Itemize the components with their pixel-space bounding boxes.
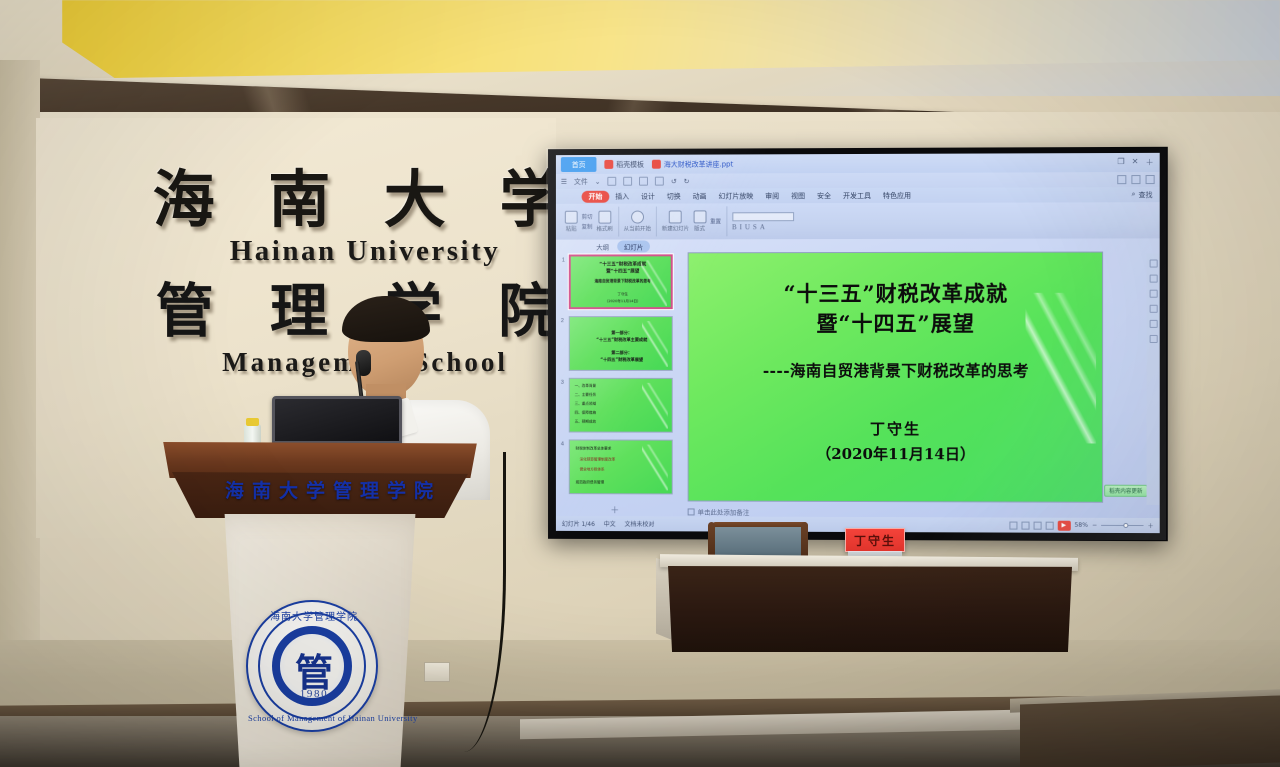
italic-icon[interactable]: I (740, 223, 742, 231)
redo-icon[interactable]: ↻ (684, 177, 690, 185)
minimize-icon[interactable] (1117, 175, 1126, 184)
help-icon[interactable] (1149, 259, 1157, 267)
panel-tab-slides[interactable]: 幻灯片 (617, 240, 650, 252)
plus-icon[interactable]: ＋ (1148, 521, 1154, 530)
wps-ribbon-tab-strip: 开始 插入 设计 切换 动画 幻灯片放映 审阅 视图 安全 开发工具 特色应用 … (556, 187, 1160, 204)
tab-presentation-file[interactable]: 海大财税改革讲座.ppt (652, 159, 733, 169)
university-name-english: Hainan University (150, 235, 580, 268)
new-slide-icon (669, 210, 682, 223)
from-current-slide-button[interactable]: 从当前开始 (624, 211, 651, 233)
current-slide[interactable]: “十三五”财税改革成就 暨“十四五”展望 ----海南自贸港背景下财税改革的思考… (688, 252, 1103, 503)
ribbon-tab-featured-apps[interactable]: 特色应用 (877, 190, 917, 200)
add-slide-button[interactable]: ＋ (610, 503, 619, 516)
ribbon-group-clipboard: 粘贴 剪切 复制 格式刷 (560, 207, 619, 237)
clipboard-small-buttons: 剪切 复制 (582, 213, 593, 231)
new-slide-button[interactable]: 新建幻灯片 (662, 210, 689, 232)
reset-label[interactable]: 重置 (710, 217, 721, 225)
bench-seat (1020, 695, 1280, 767)
thumbnail-slide-2[interactable]: 2 第一部分： “十三五”财税改革主要成就 第二部分： “十四五”财税改革展望 (569, 316, 673, 371)
panel-tab-outline[interactable]: 大纲 (596, 241, 609, 251)
slide-subtitle[interactable]: ----海南自贸港背景下财税改革的思考 (689, 359, 1103, 381)
thumbnail-slide-3[interactable]: 3 一、改革背景 二、主要任务 三、重点领域 四、保障措施 五、预期成效 (569, 378, 673, 433)
tab-template-label: 稻壳模板 (616, 159, 644, 169)
bold-icon[interactable]: B (732, 223, 737, 231)
layout-icon[interactable] (1149, 275, 1157, 283)
reading-view-icon[interactable] (1033, 521, 1041, 529)
projection-screen: 首页 稻壳模板 海大财税改革讲座.ppt ❐ ✕ ＋ ☰ 文件 (548, 147, 1168, 541)
close-icon[interactable]: ✕ (1132, 157, 1139, 168)
file-menu-label[interactable]: 文件 (574, 176, 588, 186)
thumbnail-number: 2 (561, 318, 564, 324)
layout-button[interactable]: 版式 (693, 210, 706, 232)
slide-panel-tabs: 大纲 幻灯片 (564, 239, 683, 252)
minus-icon[interactable]: − (1092, 522, 1097, 529)
hamburger-icon[interactable]: ☰ (561, 177, 567, 185)
restore-icon[interactable]: ❐ (1117, 157, 1124, 168)
notes-view-icon[interactable] (1045, 521, 1053, 529)
window-close-icon[interactable] (1146, 175, 1155, 184)
font-name-box[interactable] (732, 212, 794, 221)
window-buttons (1117, 175, 1159, 184)
play-icon[interactable]: ▶ (1057, 520, 1070, 530)
name-placard-text: 丁守生 (854, 532, 896, 549)
university-name-chinese: 海 南 大 学 (150, 168, 580, 231)
ribbon-tab-slideshow[interactable]: 幻灯片放映 (712, 191, 759, 201)
from-current-label: 从当前开始 (624, 224, 651, 232)
thumbnail-slide-1[interactable]: 1 “十三五”财税改革成就 暨“十四五”展望 海南自贸港背景下财税改革的思考 丁… (569, 254, 673, 309)
podium-label: 海南大学管理学院 (188, 476, 478, 503)
tab-home[interactable]: 首页 (561, 157, 597, 172)
lecture-hall-photo: 海 南 大 学 Hainan University 管 理 学 院 Manage… (0, 0, 1280, 767)
docer-update-badge[interactable]: 稻壳内容更新 (1104, 485, 1147, 497)
slide-author[interactable]: 丁守生 (689, 418, 1103, 440)
search-label: 查找 (1138, 190, 1152, 200)
find-icon[interactable] (655, 177, 664, 186)
undo-icon[interactable]: ↺ (671, 177, 677, 185)
thumbnail-streak (641, 260, 667, 306)
notes-expand-icon[interactable] (688, 508, 695, 515)
slide-count-label: 幻灯片 1/46 (562, 519, 595, 528)
font-format-buttons: B I U S A (732, 223, 794, 231)
status-bar-right: ▶ 58% − ＋ (1009, 520, 1154, 531)
chevron-down-icon[interactable]: ⌄ (595, 177, 601, 185)
name-placard: 丁守生 (845, 528, 905, 552)
paste-icon (565, 211, 578, 224)
slide-date[interactable]: （2020年11月14日） (689, 443, 1103, 465)
thumbnail-number: 4 (561, 441, 564, 447)
paste-button[interactable]: 粘贴 (565, 211, 578, 233)
search-icon: ⌕ (1131, 190, 1135, 199)
desk-front-panel (668, 566, 1072, 652)
laptop-screen (272, 396, 402, 444)
new-slide-label: 新建幻灯片 (662, 224, 689, 232)
right-side-rail[interactable] (1147, 253, 1160, 505)
language-label[interactable]: 中文 (604, 519, 616, 528)
emblem-year: 1980 (248, 688, 380, 700)
ribbon-tab-security[interactable]: 安全 (811, 191, 837, 201)
bottle-cap (246, 418, 259, 426)
wps-tab-bar: 首页 稻壳模板 海大财税改革讲座.ppt ❐ ✕ ＋ (556, 153, 1160, 174)
ribbon-group-font: B I U S A (727, 212, 794, 231)
shape-icon[interactable] (1149, 290, 1157, 298)
format-painter-label: 格式刷 (596, 225, 612, 233)
save-icon[interactable] (607, 177, 616, 186)
thumbnail-slide-4[interactable]: 4 财税体制改革总体要求 深化预算管理制度改革 健全地方税体系 规范政府债务管理 (569, 439, 673, 494)
tab-template[interactable]: 稻壳模板 (604, 159, 644, 169)
wps-ribbon-body: 粘贴 剪切 复制 格式刷 从当前开始 (556, 202, 1160, 239)
slide-title-line1: “十三五”财税改革成就 (784, 281, 1008, 306)
layout-icon (693, 210, 706, 223)
emblem-chinese-ring-text: 海南大学管理学院 (248, 608, 380, 623)
layout-label: 版式 (694, 224, 705, 232)
table-icon[interactable] (1149, 335, 1157, 343)
wall-left-edge (0, 60, 40, 660)
zoom-slider[interactable] (1101, 525, 1143, 526)
thumbnail-number: 1 (562, 258, 565, 264)
sorter-view-icon[interactable] (1021, 521, 1029, 529)
format-painter-icon (598, 211, 611, 224)
thumbnail-streak (642, 383, 668, 429)
slide-editing-area[interactable]: “十三五”财税改革成就 暨“十四五”展望 ----海南自贸港背景下财税改革的思考… (688, 252, 1103, 503)
reset-group: 重置 (710, 217, 721, 225)
notes-placeholder-text: 单击此处添加备注 (698, 506, 750, 516)
image-icon[interactable] (1149, 305, 1157, 313)
school-emblem: 海南大学管理学院 管 1980 School of Management of … (246, 600, 378, 732)
print-icon[interactable] (639, 177, 648, 186)
podium-front-band: 海南大学管理学院 (172, 472, 468, 518)
copy-label[interactable]: 复制 (582, 223, 593, 231)
wps-application-window: 首页 稻壳模板 海大财税改革讲座.ppt ❐ ✕ ＋ ☰ 文件 (556, 153, 1160, 533)
paste-label: 粘贴 (566, 225, 577, 233)
play-circle-icon (631, 211, 644, 224)
maximize-icon[interactable] (1131, 175, 1140, 184)
speaker-hair (342, 296, 430, 342)
ribbon-search-box[interactable]: ⌕ 查找 (1131, 190, 1159, 200)
tab-bar-controls: ❐ ✕ ＋ (1117, 157, 1159, 168)
ribbon-tab-developer[interactable]: 开发工具 (837, 190, 877, 200)
template-icon (604, 160, 613, 169)
plus-icon[interactable]: ＋ (1146, 157, 1154, 168)
zoom-level-label: 58% (1074, 522, 1087, 529)
ribbon-tab-animations[interactable]: 动画 (687, 191, 713, 201)
thumbnail-streak (642, 321, 668, 367)
normal-view-icon[interactable] (1009, 521, 1017, 529)
slide-title[interactable]: “十三五”财税改革成就 暨“十四五”展望 (689, 279, 1103, 339)
ribbon-tab-home[interactable]: 开始 (582, 190, 610, 202)
strikethrough-icon[interactable]: S (753, 223, 757, 231)
tab-file-label: 海大财税改革讲座.ppt (664, 159, 733, 169)
slide-thumbnail-panel[interactable]: 1 “十三五”财税改革成就 暨“十四五”展望 海南自贸港背景下财税改革的思考 丁… (569, 254, 680, 498)
emblem-english-ring-text: School of Management of Hainan Universit… (248, 713, 380, 723)
text-color-icon[interactable]: A (760, 223, 765, 231)
chart-icon[interactable] (1149, 320, 1157, 328)
ribbon-tab-transitions[interactable]: 切换 (661, 191, 687, 201)
ribbon-group-slides: 新建幻灯片 版式 重置 (657, 206, 727, 236)
slide-title-line2: 暨“十四五”展望 (816, 311, 974, 336)
ribbon-tab-view[interactable]: 视图 (785, 191, 811, 201)
cut-label[interactable]: 剪切 (582, 213, 593, 221)
zoom-slider-knob[interactable] (1123, 522, 1128, 527)
thumbnail-number: 3 (561, 380, 564, 386)
ppt-file-icon (652, 160, 661, 169)
ribbon-tab-insert[interactable]: 插入 (609, 191, 635, 201)
print-preview-icon[interactable] (623, 177, 632, 186)
laptop[interactable] (272, 396, 402, 444)
ribbon-group-slideshow: 从当前开始 (619, 207, 657, 237)
thumbnail-streak (642, 445, 668, 491)
ribbon-tab-design[interactable]: 设计 (635, 191, 661, 201)
underline-icon[interactable]: U (745, 223, 750, 231)
ribbon-tab-review[interactable]: 审阅 (759, 191, 785, 201)
format-painter-button[interactable]: 格式刷 (596, 211, 612, 233)
spellcheck-label[interactable]: 文档未校对 (625, 519, 655, 528)
